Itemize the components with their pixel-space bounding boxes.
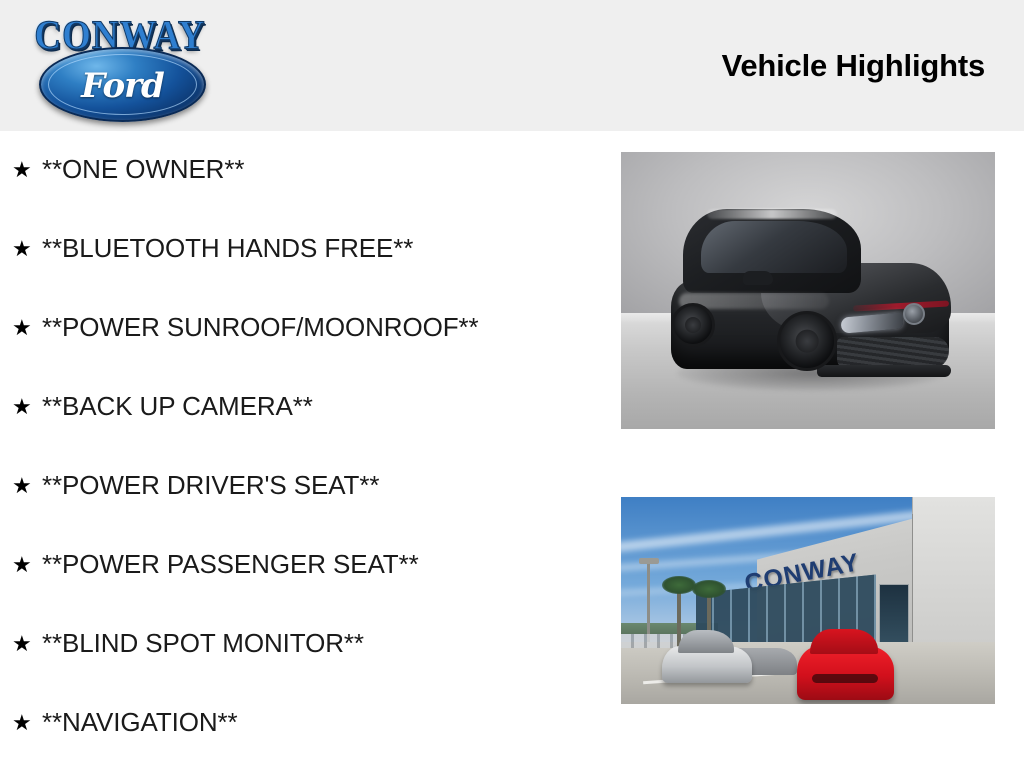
list-item: ★ **POWER PASSENGER SEAT** [0,545,600,624]
car-windshield [701,221,847,273]
dealership-photo[interactable]: CONWAY [621,497,995,704]
list-item: ★ **ONE OWNER** [0,150,600,229]
star-icon: ★ [12,711,32,735]
car-front-lip [817,365,951,377]
highlight-label: **POWER PASSENGER SEAT** [42,548,419,580]
car-front-wheel [777,311,837,371]
ford-script-text: Ford [41,49,204,120]
list-item: ★ **BLUETOOTH HANDS FREE** [0,229,600,308]
car-roofline-highlight [707,209,837,219]
star-icon: ★ [12,237,32,261]
star-icon: ★ [12,632,32,656]
page-header: CONWAY Ford Vehicle Highlights [0,0,1024,131]
car-badge-icon [903,303,925,325]
silver-sedan [662,646,752,683]
vehicle-illustration [665,207,955,382]
list-item: ★ **POWER DRIVER'S SEAT** [0,466,600,545]
highlight-label: **BLUETOOTH HANDS FREE** [42,232,413,264]
page-title: Vehicle Highlights [722,48,985,84]
highlight-label: **POWER SUNROOF/MOONROOF** [42,311,479,343]
vehicle-photo[interactable] [621,152,995,429]
list-item: ★ **BLIND SPOT MONITOR** [0,624,600,703]
highlight-label: **NAVIGATION** [42,706,238,738]
list-item: ★ **POWER SUNROOF/MOONROOF** [0,308,600,387]
highlight-label: **BACK UP CAMERA** [42,390,313,422]
ford-oval-icon: Ford [39,47,206,122]
dealer-logo[interactable]: CONWAY Ford [25,14,215,118]
star-icon: ★ [12,474,32,498]
highlight-label: **ONE OWNER** [42,153,244,185]
vehicle-highlights-list: ★ **ONE OWNER** ★ **BLUETOOTH HANDS FREE… [0,150,600,782]
list-item: ★ **NAVIGATION** [0,703,600,782]
red-car [797,646,894,700]
star-icon: ★ [12,316,32,340]
list-item: ★ **BACK UP CAMERA** [0,387,600,466]
star-icon: ★ [12,553,32,577]
car-rear-wheel [671,303,715,347]
light-pole [647,563,650,642]
highlight-label: **BLIND SPOT MONITOR** [42,627,364,659]
star-icon: ★ [12,158,32,182]
highlight-label: **POWER DRIVER'S SEAT** [42,469,379,501]
car-side-mirror [743,271,773,285]
star-icon: ★ [12,395,32,419]
